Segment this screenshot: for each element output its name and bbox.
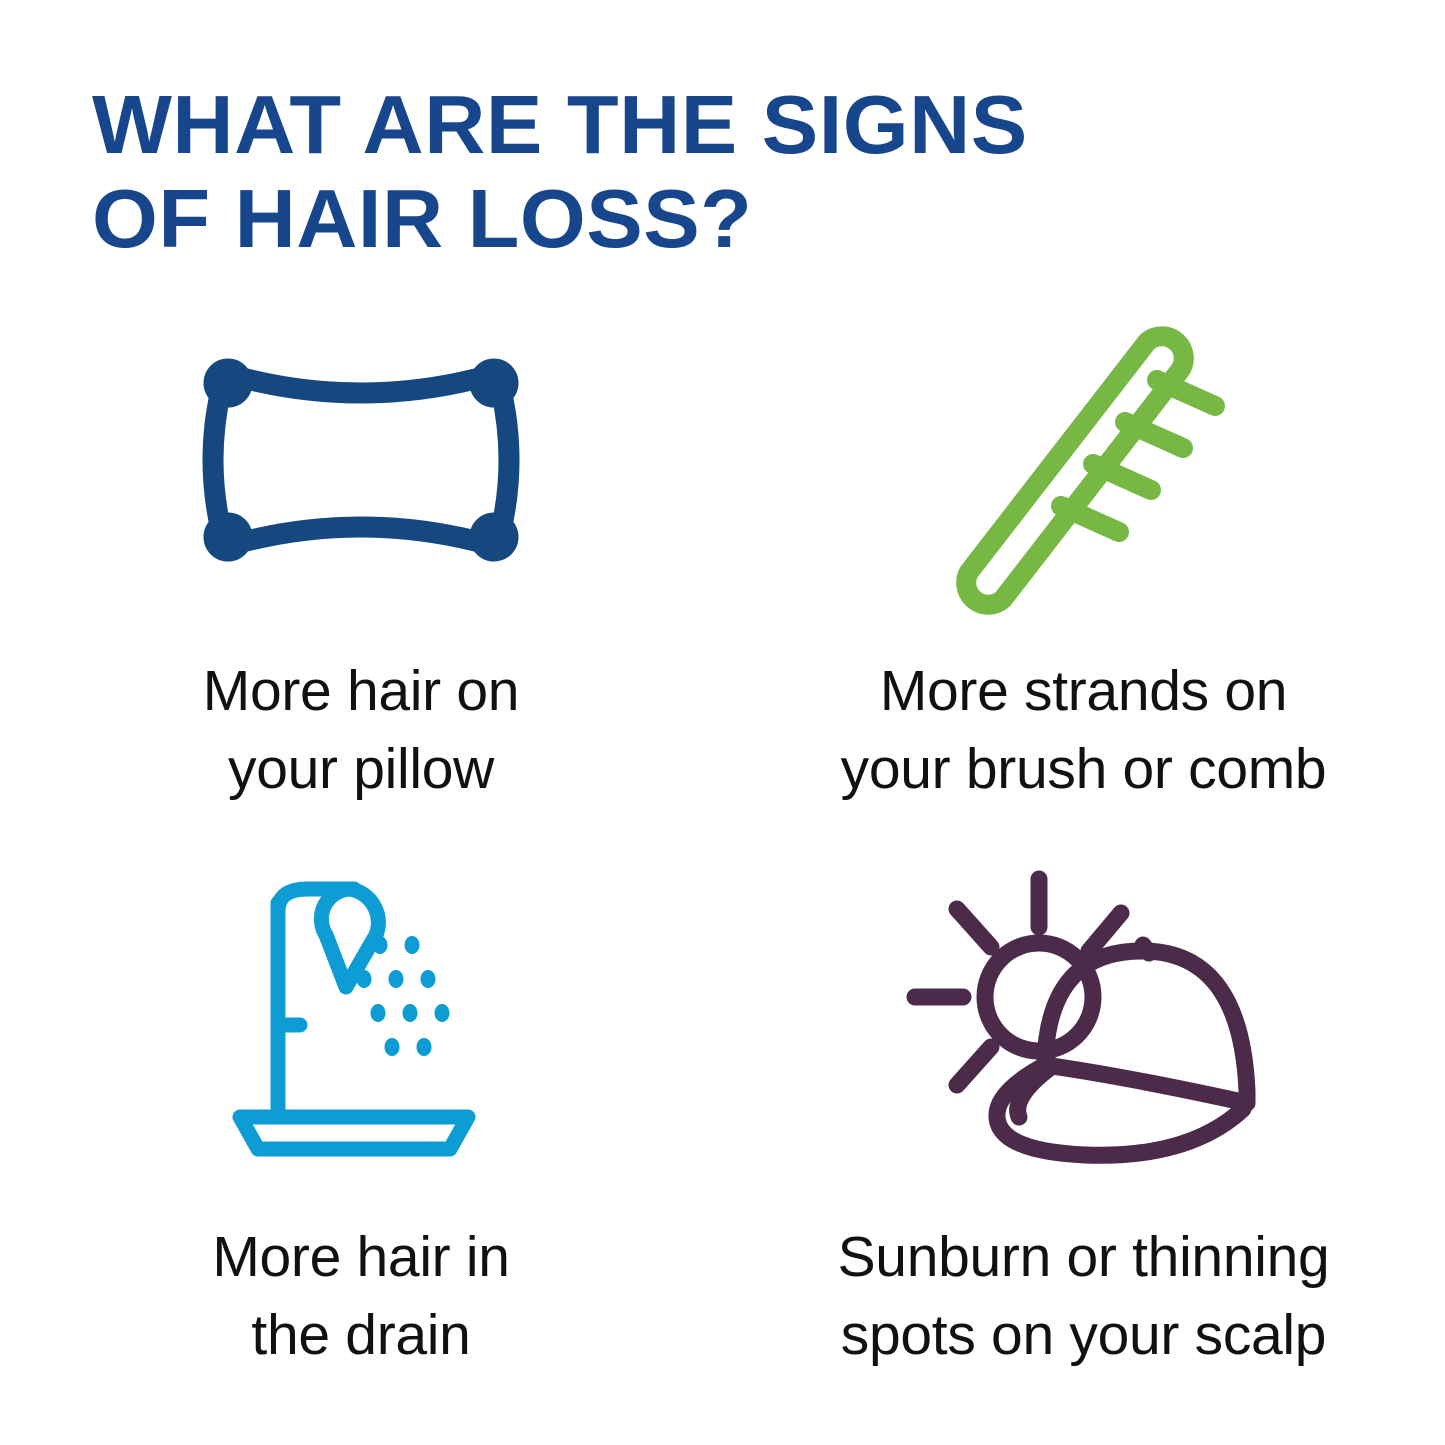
sign-caption-shower-line-2: the drain <box>212 1296 509 1374</box>
sign-caption-sun-cap-line-1: Sunburn or thinning <box>838 1218 1330 1296</box>
sign-caption-shower: More hair in the drain <box>212 1218 509 1374</box>
page-title-line-1: WHAT ARE THE SIGNS <box>92 78 1214 172</box>
pillow-icon <box>191 340 531 580</box>
sign-caption-sun-cap-line-2: spots on your scalp <box>838 1296 1330 1374</box>
signs-grid: More hair on your pillow <box>0 300 1445 1400</box>
sign-item-comb: More strands on your brush or comb <box>722 300 1445 860</box>
sun-cap-icon-wrap <box>722 860 1445 1170</box>
pillow-icon-wrap <box>0 300 722 620</box>
sign-item-shower: More hair in the drain <box>0 860 722 1400</box>
shower-icon <box>226 875 496 1155</box>
sign-item-sun-cap: Sunburn or thinning spots on your scalp <box>722 860 1445 1400</box>
comb-icon-wrap <box>722 300 1445 620</box>
sun-ray-top-left <box>957 909 991 947</box>
sun-ray-bottom-left <box>957 1047 991 1085</box>
sign-item-pillow: More hair on your pillow <box>0 300 722 860</box>
page-title: WHAT ARE THE SIGNS OF HAIR LOSS? <box>92 78 1192 266</box>
sign-caption-comb-line-1: More strands on <box>841 652 1327 730</box>
comb-icon <box>929 310 1239 610</box>
sign-caption-pillow-line-2: your pillow <box>203 730 519 808</box>
shower-icon-wrap <box>0 860 722 1170</box>
sign-caption-pillow-line-1: More hair on <box>203 652 519 730</box>
sign-caption-pillow: More hair on your pillow <box>203 652 519 808</box>
sun-cap-icon <box>899 865 1269 1165</box>
page-title-line-2: OF HAIR LOSS? <box>92 172 1214 266</box>
sign-caption-shower-line-1: More hair in <box>212 1218 509 1296</box>
infographic-page: WHAT ARE THE SIGNS OF HAIR LOSS? <box>0 0 1445 1445</box>
sign-caption-comb-line-2: your brush or comb <box>841 730 1327 808</box>
sign-caption-sun-cap: Sunburn or thinning spots on your scalp <box>838 1218 1330 1374</box>
sign-caption-comb: More strands on your brush or comb <box>841 652 1327 808</box>
